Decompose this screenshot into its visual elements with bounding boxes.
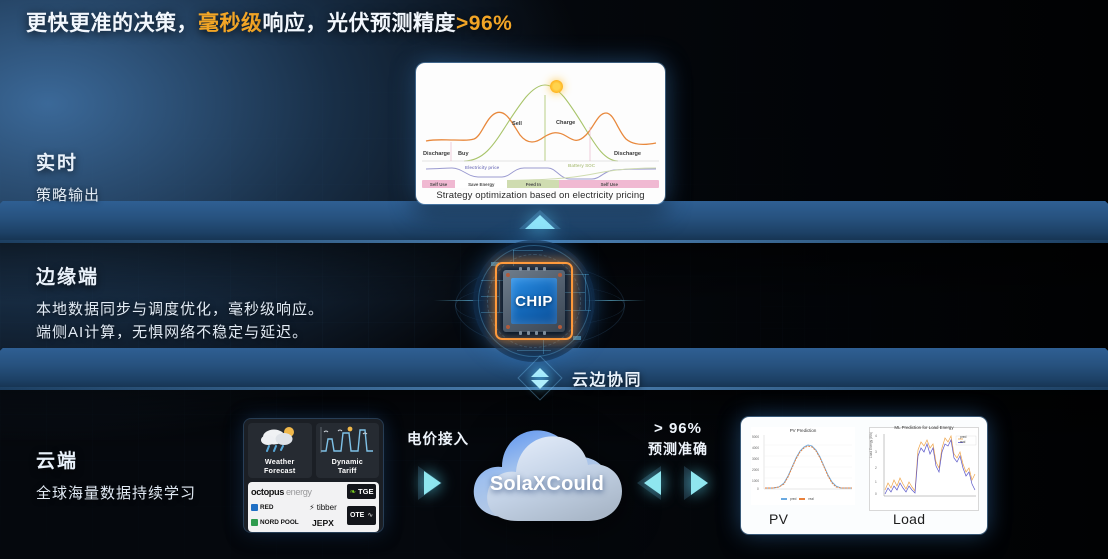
red-square-icon [251,504,258,511]
tge-logo[interactable]: ❧TGE [347,484,376,499]
pv-prediction-chart: PV Prediction 5000 4000 3000 2000 1000 0 [751,427,855,505]
strategy-chart-plot: Discharge Buy Sell Charge Discharge Elec… [422,69,659,204]
infographic-stage: 更快更准的决策，毫秒级响应，光伏预测精度>96% 实时 策略输出 边缘端 本地数… [0,0,1108,559]
tile-tariff-label: Dynamic Tariff [332,458,363,475]
jepx-logo[interactable]: JEPX [300,518,346,528]
load-prediction-chart: ML Prediction for Load Energy 4 3 2 1 0 … [869,427,979,511]
headline-highlight2: >96% [456,12,512,35]
chart-band-save-energy: Save Energy [455,180,507,188]
chip-package: CHIP [503,270,565,332]
weather-cloud-rain-icon [260,425,300,452]
red-electrica-logo[interactable]: RED [251,504,299,511]
tibber-logo[interactable]: ⚡tibber [300,503,346,512]
load-ytick-1: 1 [875,480,877,484]
load-ytick-0: 0 [875,492,877,496]
stage-desc-edge-line2: 端侧AI计算，无惧网络不稳定与延迟。 [36,321,324,344]
pv-ytick-1: 1000 [752,479,759,483]
ote-logo[interactable]: OTE∿ [347,506,376,525]
tariff-curve-icon [319,425,375,455]
chart-annotation-discharge-1: Discharge [423,151,450,157]
source-tiles: Weather Forecast Dynamic Tariff [248,423,379,478]
page-title: 更快更准的决策，毫秒级响应，光伏预测精度>96% [26,7,512,37]
cloud-icon [466,415,628,527]
data-sources-card[interactable]: Weather Forecast Dynamic Tariff [244,419,383,532]
strategy-chart-card[interactable]: Discharge Buy Sell Charge Discharge Elec… [416,63,665,204]
nordpool-square-icon [251,519,258,526]
chart-series-label-soc: Battery SOC [568,163,595,168]
caption-accuracy: > 96% 预测准确 [632,420,724,459]
chart-mode-band-strip: Self Use Save Energy Feed In Self Use [422,180,659,188]
tile-weather-label: Weather Forecast [264,458,296,475]
headline-highlight: 毫秒级 [198,12,263,35]
play-left-icon[interactable] [644,471,661,495]
load-ylabel: Load Energy (Wh) [869,432,873,458]
headline-part1: 更快更准的决策， [26,12,198,35]
stage-title-cloud: 云端 [36,446,196,473]
stage-subtitle-realtime: 策略输出 [36,184,100,207]
cloud-edge-sync-badge[interactable]: 云边协同 [516,356,642,400]
caption-accuracy-value: > 96% [632,420,724,437]
tile-dynamic-tariff[interactable]: Dynamic Tariff [316,423,380,478]
solax-cloud[interactable]: SolaXCould [466,415,628,530]
chart-annotation-charge: Charge [556,120,575,126]
pv-ytick-0: 0 [757,487,759,491]
chart-band-self-use-1: Self Use [422,180,455,188]
chart-annotation-buy: Buy [458,151,469,157]
bolt-icon: ⚡ [309,503,315,512]
pv-ytick-4: 4000 [752,446,759,450]
chart-annotation-discharge-2: Discharge [614,151,641,157]
up-arrow-icon [525,215,555,229]
headline-part2: 响应，光伏预测精度 [263,12,457,35]
pv-ytick-3: 3000 [752,457,759,461]
cloud-label: SolaXCould [466,473,628,496]
leaf-icon: ❧ [350,487,356,496]
stage-label-edge: 边缘端 本地数据同步与调度优化，毫秒级响应。 端侧AI计算，无惧网络不稳定与延迟… [36,262,324,345]
up-down-arrow-icon [516,356,564,400]
pv-chart-title: PV Prediction [751,428,855,433]
chart-band-self-use-2: Self Use [559,180,659,188]
stage-label-realtime: 实时 策略输出 [36,148,100,207]
pv-caption: PV [769,511,788,527]
nord-pool-logo[interactable]: NORD POOL [251,519,299,526]
stage-title-edge: 边缘端 [36,262,324,289]
stage-title-realtime: 实时 [36,148,100,175]
play-right-icon-2[interactable] [691,471,708,495]
chart-series-label-price: Electricity price [465,165,499,170]
partner-logo-grid: octopusenergy ❧TGE RED ⚡tibber OTE∿ NORD… [248,482,379,532]
load-ytick-2: 2 [875,466,877,470]
stage-subtitle-cloud: 全球海量数据持续学习 [36,482,196,505]
load-chart-legend: pred real [960,435,966,444]
play-right-icon[interactable] [424,471,441,495]
sun-icon [550,80,563,93]
chip-die: CHIP [511,278,557,324]
stage-desc-edge-line1: 本地数据同步与调度优化，毫秒级响应。 [36,298,324,321]
chip-label: CHIP [515,293,553,310]
edge-chip-module[interactable]: CHIP [468,240,613,362]
pv-ytick-2: 2000 [752,468,759,472]
stage-desc-edge: 本地数据同步与调度优化，毫秒级响应。 端侧AI计算，无惧网络不稳定与延迟。 [36,298,324,345]
pv-chart-svg [751,427,855,499]
caption-accuracy-text: 预测准确 [632,439,724,459]
forecast-charts-card[interactable]: PV Prediction 5000 4000 3000 2000 1000 0 [741,417,987,534]
stage-label-cloud: 云端 全球海量数据持续学习 [36,446,196,505]
load-caption: Load [893,511,925,527]
pv-chart-legend: pred real [781,497,814,501]
chart-band-feed-in: Feed In [507,180,559,188]
pv-ytick-5: 5000 [752,435,759,439]
load-ytick-4: 4 [875,434,877,438]
chart-annotation-sell: Sell [512,121,522,127]
sync-label: 云边协同 [572,366,642,390]
strategy-chart-svg [422,69,659,187]
load-ytick-3: 3 [875,450,877,454]
load-chart-title: ML Prediction for Load Energy [870,425,978,430]
strategy-chart-caption: Strategy optimization based on electrici… [416,190,665,201]
tile-weather-forecast[interactable]: Weather Forecast [248,423,312,478]
octopus-energy-logo[interactable]: octopusenergy [251,487,346,497]
